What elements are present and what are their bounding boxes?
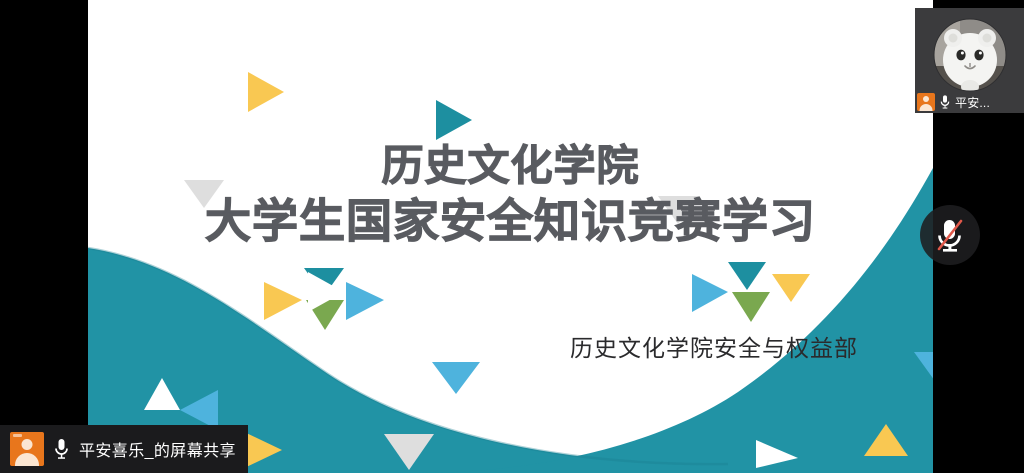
self-view-participant-name: 平安... xyxy=(955,94,990,111)
mute-microphone-button[interactable] xyxy=(920,205,980,265)
meeting-screen-share-view: 历史文化学院 大学生国家安全知识竞赛学习 历史文化学院安全与权益部 平安喜乐_的… xyxy=(0,0,1024,473)
person-avatar-icon xyxy=(917,93,935,111)
person-avatar-icon xyxy=(10,432,44,466)
self-view-footer: 平安... xyxy=(915,91,1024,113)
microphone-icon xyxy=(53,437,70,461)
slide-subtitle: 历史文化学院安全与权益部 xyxy=(570,329,858,363)
screen-share-label: 平安喜乐_的屏幕共享 xyxy=(79,437,236,461)
slide-title-line-2: 大学生国家安全知识竞赛学习 xyxy=(88,196,933,248)
shared-screen-slide: 历史文化学院 大学生国家安全知识竞赛学习 历史文化学院安全与权益部 xyxy=(88,0,933,473)
slide-title-line-1: 历史文化学院 xyxy=(88,142,933,189)
screen-share-status-bar[interactable]: 平安喜乐_的屏幕共享 xyxy=(0,425,236,473)
self-view-thumbnail[interactable]: 平安... xyxy=(915,8,1024,113)
microphone-muted-icon xyxy=(933,215,967,255)
microphone-icon xyxy=(939,94,951,110)
